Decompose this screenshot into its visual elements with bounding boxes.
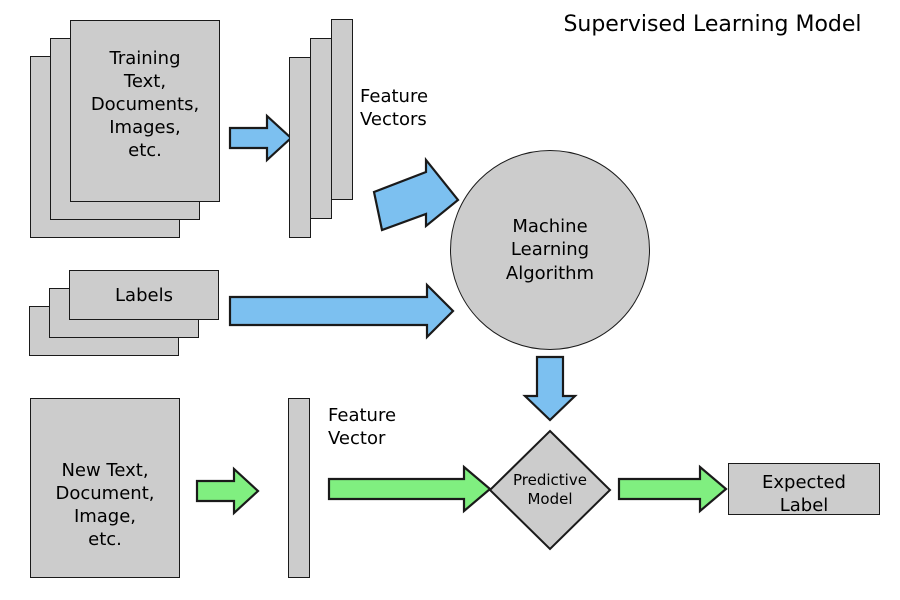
diagram-canvas: Supervised Learning Model Training Text,… [0,0,900,600]
arrow-featurevector-to-model [328,463,492,515]
feature-vector-bar-single[interactable] [288,398,310,578]
feature-vectors-caption: Feature Vectors [360,86,428,131]
predictive-model-label: Predictive Model [513,471,587,510]
training-docs-label: Training Text, Documents, Images, etc. [71,47,219,162]
arrow-algorithm-to-model [519,356,581,422]
arrow-train-to-features [229,112,293,164]
training-docs-sheet-front[interactable]: Training Text, Documents, Images, etc. [70,20,220,202]
arrow-newinput-to-featurevector [196,465,260,517]
feature-vector-bar-2 [310,38,332,219]
expected-label-box[interactable]: Expected Label [728,463,880,515]
feature-vector-bar-1[interactable] [289,57,311,238]
expected-label-text: Expected Label [729,471,879,517]
feature-vector-caption: Feature Vector [328,405,396,450]
arrow-model-to-expectedlabel [618,463,728,515]
new-input-document[interactable]: New Text, Document, Image, etc. [30,398,180,578]
ml-algorithm-label: Machine Learning Algorithm [506,215,594,285]
arrow-labels-to-algorithm [229,283,455,339]
predictive-model-diamond[interactable]: Predictive Model [488,429,612,551]
ml-algorithm-circle[interactable]: Machine Learning Algorithm [450,150,650,350]
labels-sheet-front[interactable]: Labels [69,270,219,320]
new-input-label: New Text, Document, Image, etc. [31,459,179,551]
labels-label: Labels [70,284,218,307]
feature-vector-bar-3 [331,19,353,200]
page-title: Supervised Learning Model [540,12,885,37]
arrow-features-to-algorithm [368,160,460,238]
